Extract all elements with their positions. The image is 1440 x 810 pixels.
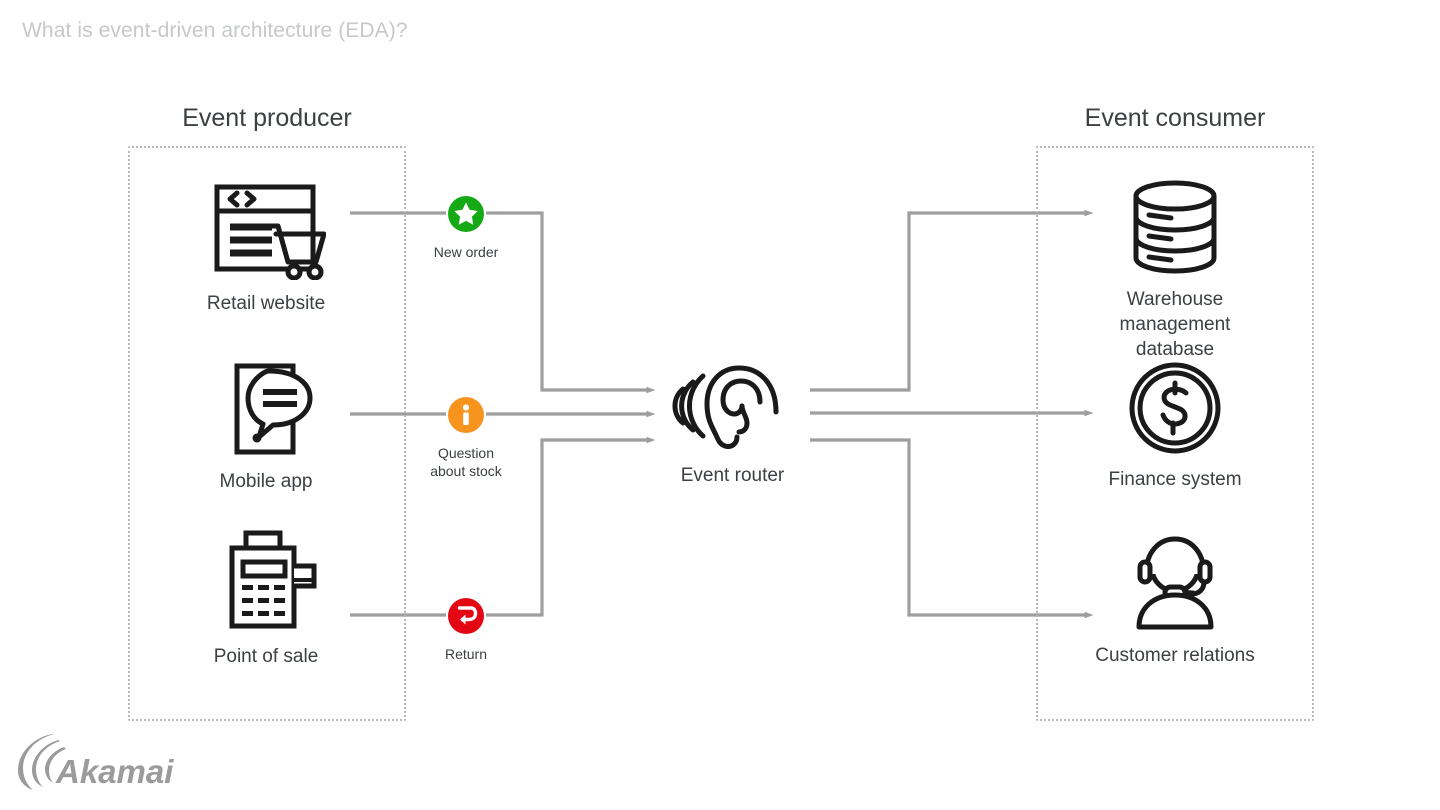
producer-group-heading: Event producer (128, 104, 406, 133)
event-badge-return[interactable]: Return (386, 597, 546, 663)
node-label: Event router (650, 463, 815, 488)
consumer-group-heading: Event consumer (1036, 104, 1314, 133)
browser-cart-icon (166, 180, 366, 285)
diagram-canvas: What is event-driven architecture (EDA)? (0, 0, 1440, 810)
event-badge-label: New order (386, 243, 546, 261)
node-mobile-app[interactable]: Mobile app (166, 358, 366, 494)
node-label: Finance system (1075, 467, 1275, 492)
akamai-wordmark: Akamai (55, 753, 174, 790)
return-badge-icon (386, 597, 546, 640)
node-finance-system[interactable]: Finance system (1075, 360, 1275, 492)
node-label: Warehouse management database (1075, 287, 1275, 362)
event-badge-label: Question about stock (386, 444, 546, 480)
event-badge-question-about-stock[interactable]: Question about stock (386, 396, 546, 480)
star-badge-icon (386, 195, 546, 238)
node-retail-website[interactable]: Retail website (166, 180, 366, 316)
page-title: What is event-driven architecture (EDA)? (22, 19, 408, 43)
event-badge-label: Return (386, 645, 546, 663)
akamai-logo: Akamai (14, 728, 194, 794)
coin-dollar-icon (1075, 360, 1275, 461)
node-customer-relations[interactable]: Customer relations (1075, 532, 1275, 668)
database-icon (1075, 178, 1275, 281)
event-badge-new-order[interactable]: New order (386, 195, 546, 261)
node-point-of-sale[interactable]: Point of sale (166, 528, 366, 669)
node-label: Retail website (166, 291, 366, 316)
info-badge-icon (386, 396, 546, 439)
pos-terminal-icon (166, 528, 366, 638)
node-label: Mobile app (166, 469, 366, 494)
node-warehouse-database[interactable]: Warehouse management database (1075, 178, 1275, 362)
node-label: Point of sale (166, 644, 366, 669)
ear-listening-icon (650, 360, 815, 457)
node-event-router[interactable]: Event router (650, 360, 815, 488)
mobile-chat-icon (166, 358, 366, 463)
headset-agent-icon (1075, 532, 1275, 637)
node-label: Customer relations (1075, 643, 1275, 668)
